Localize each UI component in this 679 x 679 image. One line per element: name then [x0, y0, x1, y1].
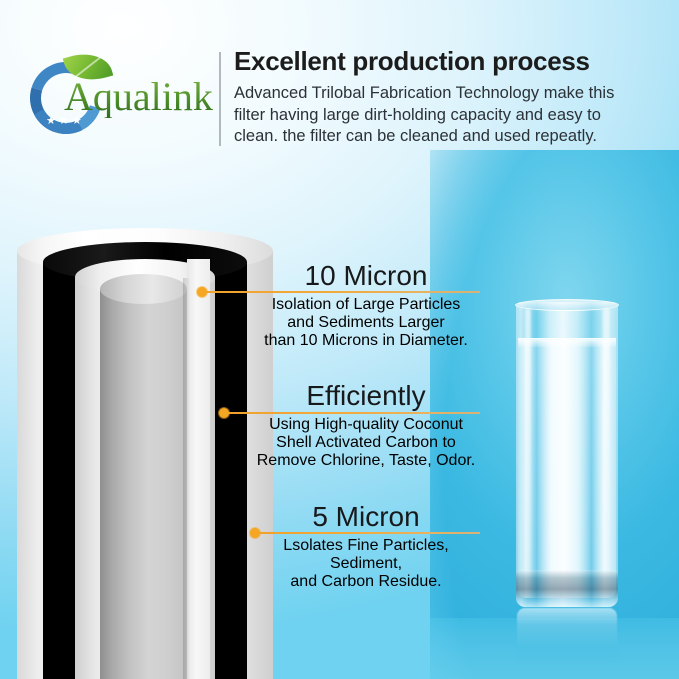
connector-line — [200, 291, 480, 293]
right-light-band-body — [187, 259, 210, 679]
connector-dot — [197, 287, 207, 297]
grey-core-body — [100, 289, 187, 679]
callout-desc-line-2: Shell Activated Carbon to — [248, 434, 484, 452]
header-divider — [219, 52, 221, 146]
callout-desc-line-2: and Sediments Larger — [248, 314, 484, 332]
connector-dot — [250, 528, 260, 538]
glass-rim — [515, 299, 619, 311]
glass-water — [518, 340, 616, 598]
glass-base — [516, 570, 618, 607]
callout-desc-line-2: Sediment, — [248, 555, 484, 573]
grey-core-top — [100, 274, 187, 304]
callout-desc-line-3: and Carbon Residue. — [248, 573, 484, 591]
callout-connector-5-micron — [253, 528, 480, 538]
header-body-line-1: Advanced Trilobal Fabrication Technology… — [234, 84, 614, 102]
layer-grey-core — [100, 274, 187, 679]
glass-highlight-left — [525, 308, 531, 598]
callout-5-micron: 5 Micron Lsolates Fine Particles, Sedime… — [248, 500, 484, 607]
brand-name: Aqualink — [64, 76, 213, 118]
header-body: Advanced Trilobal Fabrication Technology… — [234, 83, 654, 148]
layer-right-light-band — [187, 259, 210, 679]
glass-highlight-right — [603, 308, 610, 598]
callout-efficiently: Efficiently Using High-quality Coconut S… — [248, 379, 484, 486]
connector-line — [222, 412, 480, 414]
callout-10-micron: 10 Micron Isolation of Large Particles a… — [248, 259, 484, 366]
cutaway-edge-shadow — [183, 278, 190, 679]
callout-desc-line-1: Isolation of Large Particles — [248, 296, 484, 314]
brand-logo: ★ ★ ★ Aqualink — [26, 50, 212, 146]
callout-connector-efficiently — [222, 408, 480, 418]
infographic-page: ★ ★ ★ Aqualink Excellent production proc… — [0, 0, 679, 679]
callout-desc-line-3: Remove Chlorine, Taste, Odor. — [248, 452, 484, 470]
glass-reflection — [517, 608, 617, 664]
callout-desc-line-1: Using High-quality Coconut — [248, 416, 484, 434]
callout-desc-line-1: Lsolates Fine Particles, — [248, 537, 484, 555]
callout-desc-line-3: than 10 Microns in Diameter. — [248, 332, 484, 350]
header-body-line-2: filter having large dirt-holding capacit… — [234, 106, 601, 124]
page-title: Excellent production process — [234, 46, 654, 76]
water-glass — [516, 302, 618, 620]
callout-connector-10-micron — [200, 287, 480, 297]
header-body-line-3: clean. the filter can be cleaned and use… — [234, 127, 597, 145]
glass-waterline — [518, 338, 616, 347]
connector-line — [253, 532, 480, 534]
connector-dot — [219, 408, 229, 418]
header-text-block: Excellent production process Advanced Tr… — [234, 46, 654, 148]
